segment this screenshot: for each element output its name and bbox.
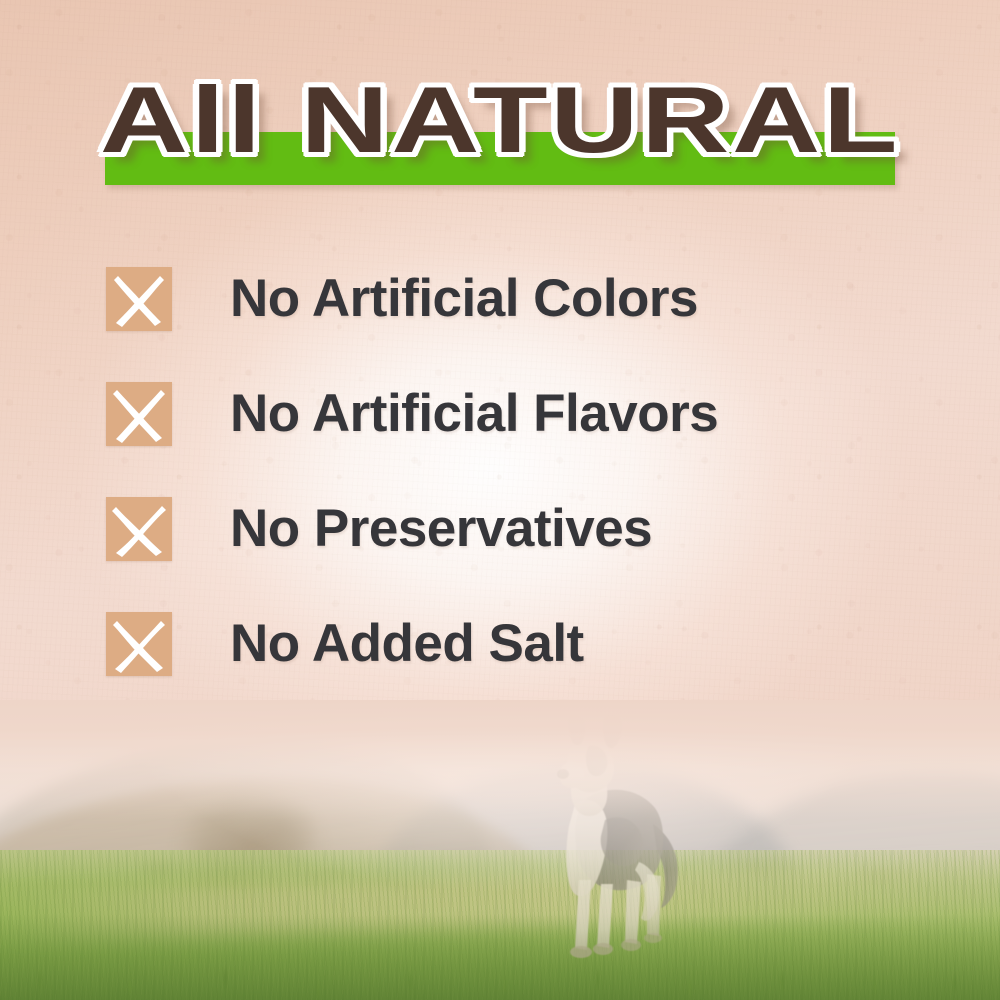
list-item: No Artificial Flavors bbox=[106, 381, 926, 447]
list-item: No Added Salt bbox=[106, 611, 926, 677]
list-item: No Artificial Colors bbox=[106, 266, 926, 332]
feature-label: No Artificial Colors bbox=[230, 270, 698, 328]
x-mark-icon bbox=[106, 612, 172, 676]
dog-photo bbox=[535, 712, 695, 964]
promo-panel: All NATURAL No Artificial Colors No Arti… bbox=[0, 0, 1000, 1000]
list-item: No Preservatives bbox=[106, 496, 926, 562]
grass-blades bbox=[0, 860, 1000, 1000]
feature-label: No Artificial Flavors bbox=[230, 385, 718, 443]
page-title: All NATURAL bbox=[0, 72, 1000, 168]
banner-header: All NATURAL bbox=[0, 72, 1000, 192]
x-mark-icon bbox=[106, 267, 172, 331]
feature-label: No Preservatives bbox=[230, 500, 652, 558]
feature-label: No Added Salt bbox=[230, 615, 584, 673]
x-mark-icon bbox=[106, 497, 172, 561]
x-mark-icon bbox=[106, 382, 172, 446]
landscape-photo bbox=[0, 700, 1000, 1000]
feature-list: No Artificial Colors No Artificial Flavo… bbox=[106, 266, 926, 677]
